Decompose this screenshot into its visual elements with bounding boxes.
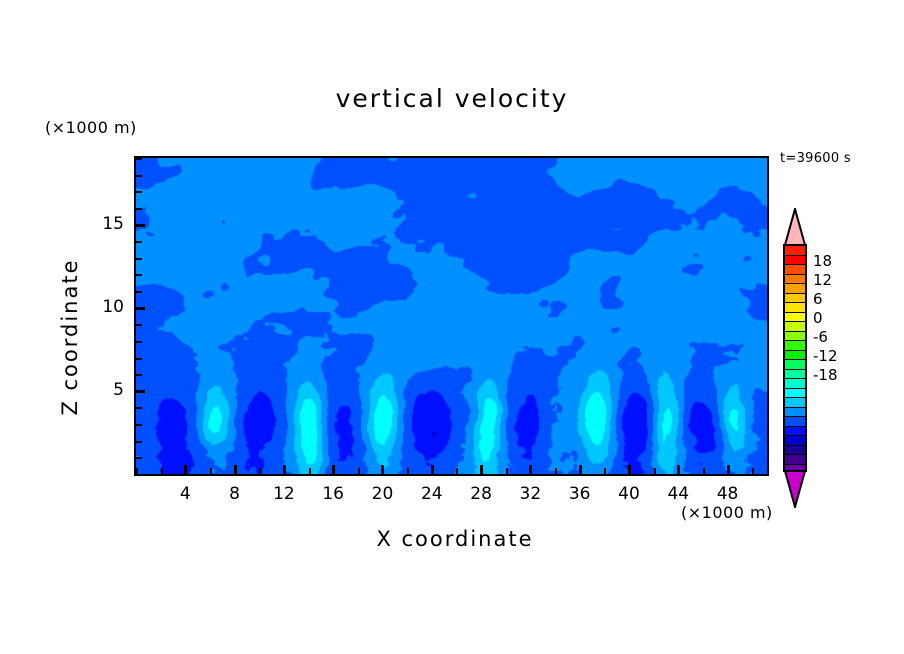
y-tick-minor: [136, 341, 142, 343]
x-tick-label: 20: [357, 484, 407, 504]
page-title: vertical velocity: [0, 84, 904, 113]
y-tick-minor: [136, 208, 142, 210]
colorbar-cap-top: [783, 208, 807, 246]
x-tick-label: 44: [653, 484, 703, 504]
colorbar-band: [785, 256, 805, 266]
colorbar-band: [785, 275, 805, 285]
colorbar-tick-label: 18: [813, 252, 832, 270]
y-tick-minor: [136, 474, 142, 476]
y-tick-label: 5: [80, 380, 124, 400]
colorbar-band: [785, 265, 805, 275]
y-tick-minor: [136, 358, 142, 360]
x-tick-label: 8: [210, 484, 260, 504]
x-tick-minor: [506, 468, 508, 474]
colorbar-band: [785, 360, 805, 370]
x-tick-minor: [654, 468, 656, 474]
x-tick-minor: [309, 468, 311, 474]
colorbar-cap-bottom: [783, 470, 807, 508]
colorbar-band: [785, 417, 805, 427]
y-tick-minor: [136, 175, 142, 177]
y-tick-minor: [136, 258, 142, 260]
vertical-velocity-field: [136, 158, 767, 474]
x-tick-label: 36: [555, 484, 605, 504]
x-tick-minor: [161, 468, 163, 474]
x-tick-label: 4: [160, 484, 210, 504]
chart-root: vertical velocity (×1000 m) (×1000 m) Z …: [0, 0, 904, 654]
colorbar-tick-label: -18: [813, 366, 838, 384]
timestamp-label: t=39600 s: [780, 151, 851, 166]
y-tick-minor: [136, 441, 142, 443]
colorbar-tick-label: 6: [813, 290, 823, 308]
colorbar-band: [785, 341, 805, 351]
colorbar: [783, 208, 807, 508]
y-tick-minor: [136, 424, 142, 426]
colorbar-band: [785, 332, 805, 342]
colorbar-band: [785, 294, 805, 304]
x-tick-major: [283, 465, 286, 474]
y-tick-major: [136, 307, 145, 310]
y-tick-minor: [136, 158, 142, 160]
colorbar-tick-label: 12: [813, 271, 832, 289]
y-tick-minor: [136, 241, 142, 243]
y-tick-minor: [136, 374, 142, 376]
colorbar-band: [785, 398, 805, 408]
x-tick-major: [184, 465, 187, 474]
x-tick-label: 40: [604, 484, 654, 504]
colorbar-band: [785, 379, 805, 389]
x-tick-major: [529, 465, 532, 474]
colorbar-band: [785, 408, 805, 418]
x-tick-major: [727, 465, 730, 474]
x-tick-minor: [358, 468, 360, 474]
colorbar-band: [785, 446, 805, 456]
x-tick-major: [332, 465, 335, 474]
y-tick-minor: [136, 324, 142, 326]
x-tick-label: 12: [259, 484, 309, 504]
x-tick-major: [628, 465, 631, 474]
x-tick-minor: [703, 468, 705, 474]
x-tick-minor: [456, 468, 458, 474]
x-tick-minor: [259, 468, 261, 474]
colorbar-tick-label: -12: [813, 347, 838, 365]
colorbar-bands: [783, 244, 807, 472]
y-tick-label: 15: [80, 214, 124, 234]
x-axis-unit-label: (×1000 m): [681, 503, 773, 522]
colorbar-band: [785, 455, 805, 465]
y-axis-title: Z coordinate: [58, 237, 82, 437]
colorbar-band: [785, 303, 805, 313]
y-tick-minor: [136, 457, 142, 459]
colorbar-band: [785, 389, 805, 399]
colorbar-band: [785, 246, 805, 256]
colorbar-band: [785, 313, 805, 323]
y-tick-minor: [136, 274, 142, 276]
x-tick-label: 24: [407, 484, 457, 504]
x-tick-minor: [407, 468, 409, 474]
x-tick-major: [480, 465, 483, 474]
y-tick-minor: [136, 191, 142, 193]
contour-plot-area: [134, 156, 769, 476]
x-tick-major: [579, 465, 582, 474]
x-tick-label: 16: [308, 484, 358, 504]
colorbar-tick-label: -6: [813, 328, 828, 346]
x-tick-minor: [604, 468, 606, 474]
y-tick-label: 10: [80, 297, 124, 317]
colorbar-band: [785, 427, 805, 437]
colorbar-tick-label: 0: [813, 309, 823, 327]
x-tick-major: [677, 465, 680, 474]
x-tick-label: 28: [456, 484, 506, 504]
x-tick-minor: [752, 468, 754, 474]
colorbar-band: [785, 351, 805, 361]
colorbar-band: [785, 322, 805, 332]
x-tick-label: 48: [703, 484, 753, 504]
x-tick-major: [381, 465, 384, 474]
x-tick-major: [431, 465, 434, 474]
y-tick-minor: [136, 407, 142, 409]
colorbar-band: [785, 436, 805, 446]
y-tick-minor: [136, 291, 142, 293]
y-tick-major: [136, 390, 145, 393]
x-tick-minor: [555, 468, 557, 474]
x-tick-major: [234, 465, 237, 474]
x-axis-title: X coordinate: [350, 527, 560, 551]
x-tick-label: 32: [505, 484, 555, 504]
colorbar-band: [785, 370, 805, 380]
y-tick-major: [136, 224, 145, 227]
x-tick-minor: [210, 468, 212, 474]
y-axis-unit-label: (×1000 m): [45, 118, 137, 137]
colorbar-band: [785, 284, 805, 294]
